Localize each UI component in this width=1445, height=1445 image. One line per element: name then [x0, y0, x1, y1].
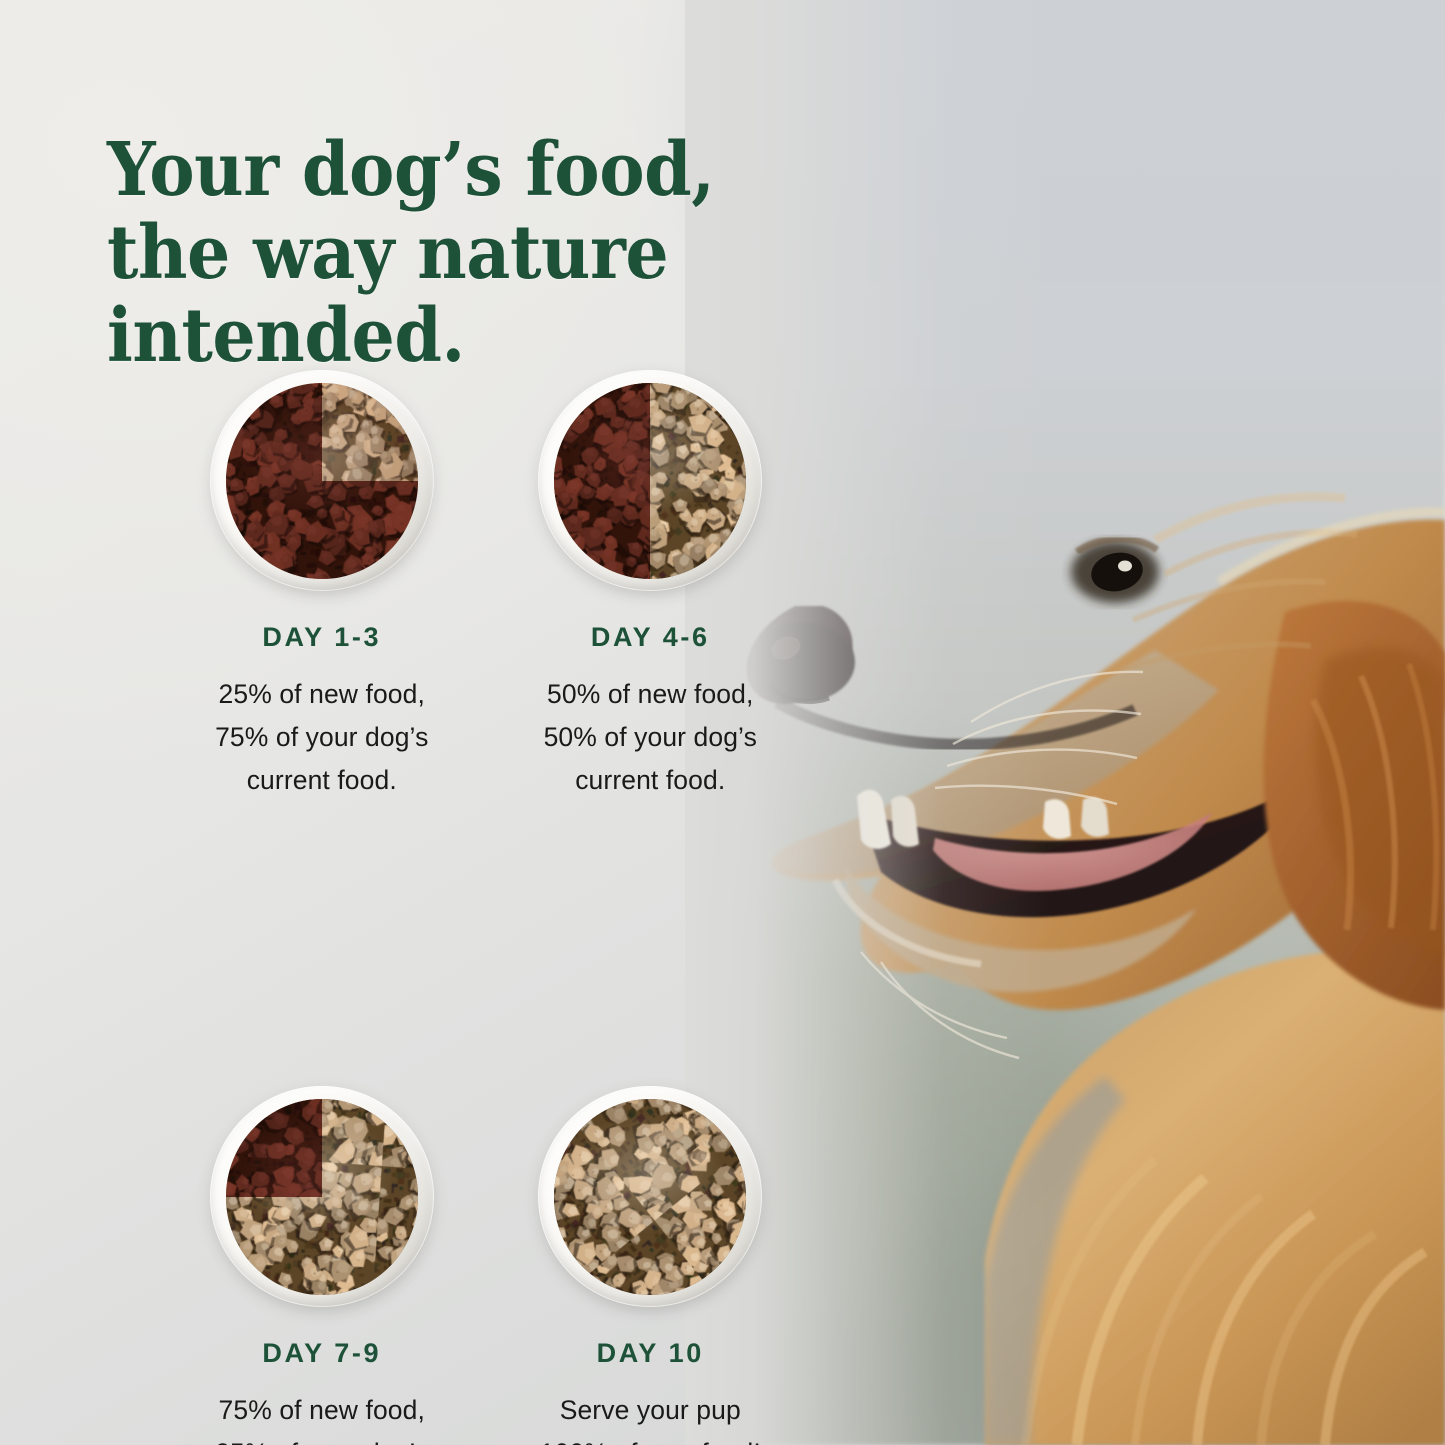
- step-description: 25% of new food, 75% of your dog’s curre…: [152, 673, 492, 802]
- infographic-canvas: Your dog’s food, the way nature intended…: [0, 0, 1445, 1445]
- page-title: Your dog’s food, the way nature intended…: [107, 129, 1009, 378]
- step-day-label: DAY 7-9: [152, 1338, 492, 1369]
- headline-line-2: the way nature intended.: [107, 212, 1009, 378]
- bowl-food-area: [226, 383, 418, 579]
- step-day-7-9: DAY 7-9 75% of new food, 25% of your dog…: [152, 1086, 492, 1445]
- old-food-overlay-quadrant: [226, 383, 322, 481]
- description-line: 75% of new food,: [152, 1389, 492, 1432]
- description-line: 100% of new food!: [481, 1432, 821, 1445]
- description-line: current food.: [152, 759, 492, 802]
- step-day-10: DAY 10 Serve your pup 100% of new food!: [481, 1086, 821, 1445]
- bowl-food-area: [554, 1099, 746, 1295]
- bowl-day-7-9: [210, 1086, 434, 1307]
- bowl-food-area: [554, 383, 746, 579]
- kibble-texture: [554, 1099, 746, 1295]
- new-food-quadrant: [322, 383, 418, 481]
- bowl-dish: [538, 1086, 762, 1307]
- bowl-dish: [210, 370, 434, 591]
- step-description: 75% of new food, 25% of your dog’s curre…: [152, 1389, 492, 1445]
- description-line: 25% of your dog’s: [152, 1432, 492, 1445]
- description-line: 50% of new food,: [481, 673, 821, 716]
- bowl-dish: [538, 370, 762, 591]
- step-day-4-6: DAY 4-6 50% of new food, 50% of your dog…: [481, 370, 821, 802]
- feeding-transition-steps: DAY 1-3 25% of new food, 75% of your dog…: [0, 370, 820, 1445]
- description-line: Serve your pup: [481, 1389, 821, 1432]
- steps-row-2: DAY 7-9 75% of new food, 25% of your dog…: [0, 1086, 820, 1445]
- headline-line-1: Your dog’s food,: [107, 127, 715, 213]
- description-line: 25% of new food,: [152, 673, 492, 716]
- step-day-label: DAY 10: [481, 1338, 821, 1369]
- old-food-overlay-quadrant: [226, 1099, 322, 1197]
- step-description: 50% of new food, 50% of your dog’s curre…: [481, 673, 821, 802]
- bowl-day-4-6: [538, 370, 762, 591]
- old-food-overlay-half: [554, 383, 650, 579]
- step-day-1-3: DAY 1-3 25% of new food, 75% of your dog…: [152, 370, 492, 802]
- steps-row-1: DAY 1-3 25% of new food, 75% of your dog…: [0, 370, 820, 802]
- step-day-label: DAY 1-3: [152, 622, 492, 653]
- bowl-food-area: [226, 1099, 418, 1295]
- description-line: 50% of your dog’s: [481, 716, 821, 759]
- bowl-day-1-3: [210, 370, 434, 591]
- description-line: 75% of your dog’s: [152, 716, 492, 759]
- old-food-overlay-quadrant: [322, 481, 418, 579]
- bowl-dish: [210, 1086, 434, 1307]
- bowl-day-10: [538, 1086, 762, 1307]
- description-line: current food.: [481, 759, 821, 802]
- old-food-overlay-quadrant: [226, 481, 322, 579]
- step-description: Serve your pup 100% of new food!: [481, 1389, 821, 1445]
- step-day-label: DAY 4-6: [481, 622, 821, 653]
